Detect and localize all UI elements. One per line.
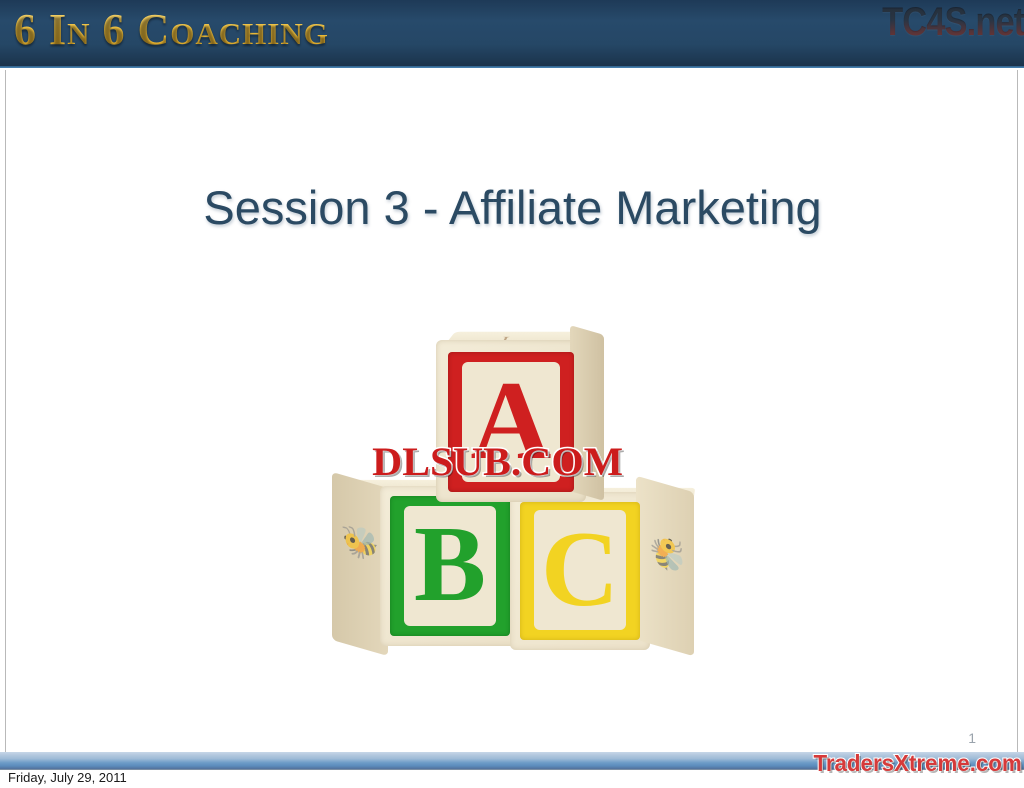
bee-engraving-icon: 🐝	[649, 530, 684, 577]
abc-blocks-image: 🐝 B 🐝 C J	[324, 312, 704, 672]
presentation-slide: 6 In 6 Coaching TC4S.net Session 3 - Aff…	[0, 0, 1024, 788]
bee-engraving-icon: 🐝	[340, 523, 382, 564]
slide-content-area: Session 3 - Affiliate Marketing 🐝 B 🐝	[5, 70, 1018, 752]
block-c-letter: C	[534, 510, 626, 630]
block-c-side-face: 🐝	[636, 476, 694, 657]
page-title: Session 3 - Affiliate Marketing	[6, 180, 1019, 235]
tc4s-brand-logo: TC4S.net	[882, 0, 1024, 45]
block-b-letter: B	[404, 506, 496, 626]
tradersxtreme-brand-logo: TradersXtreme.com	[814, 750, 1022, 777]
course-title: 6 In 6 Coaching	[14, 4, 329, 55]
slide-header-band: 6 In 6 Coaching TC4S.net	[0, 0, 1024, 68]
dlsub-watermark: DLSUB.COM	[372, 438, 623, 485]
slide-date: Friday, July 29, 2011	[8, 770, 127, 785]
slide-page-number: 1	[968, 730, 976, 746]
